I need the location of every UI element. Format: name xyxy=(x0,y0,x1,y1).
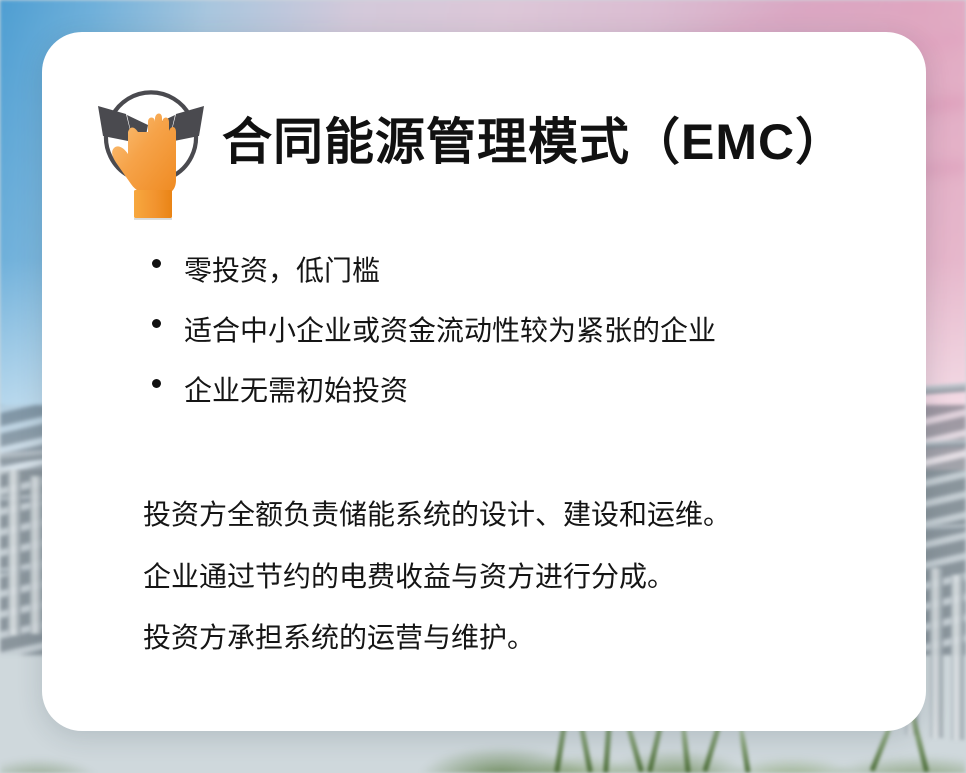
bullet-dot-icon xyxy=(152,259,161,268)
bullet-dot-icon xyxy=(152,379,161,388)
bullet-dot-icon xyxy=(152,319,161,328)
list-item: 零投资，低门槛 xyxy=(146,254,716,287)
description-line: 企业通过节约的电费收益与资方进行分成。 xyxy=(143,560,731,594)
description-line: 投资方承担系统的运营与维护。 xyxy=(143,621,731,655)
description-block: 投资方全额负责储能系统的设计、建设和运维。 企业通过节约的电费收益与资方进行分成… xyxy=(143,498,731,655)
hand-in-circle-icon xyxy=(86,70,216,220)
list-item-label: 企业无需初始投资 xyxy=(184,375,408,406)
list-item: 企业无需初始投资 xyxy=(146,374,716,407)
list-item-label: 适合中小企业或资金流动性较为紧张的企业 xyxy=(184,315,716,346)
list-item: 适合中小企业或资金流动性较为紧张的企业 xyxy=(146,314,716,347)
description-line: 投资方全额负责储能系统的设计、建设和运维。 xyxy=(143,498,731,532)
support-post xyxy=(8,470,21,635)
content-card: 合同能源管理模式（EMC） 零投资，低门槛 适合中小企业或资金流动性较为紧张的企… xyxy=(42,32,926,731)
page-title: 合同能源管理模式（EMC） xyxy=(222,117,846,167)
list-item-label: 零投资，低门槛 xyxy=(184,255,380,286)
screenshot-root: 合同能源管理模式（EMC） 零投资，低门槛 适合中小企业或资金流动性较为紧张的企… xyxy=(0,0,966,773)
card-header: 合同能源管理模式（EMC） xyxy=(86,70,846,220)
feature-bullet-list: 零投资，低门槛 适合中小企业或资金流动性较为紧张的企业 企业无需初始投资 xyxy=(146,254,716,407)
